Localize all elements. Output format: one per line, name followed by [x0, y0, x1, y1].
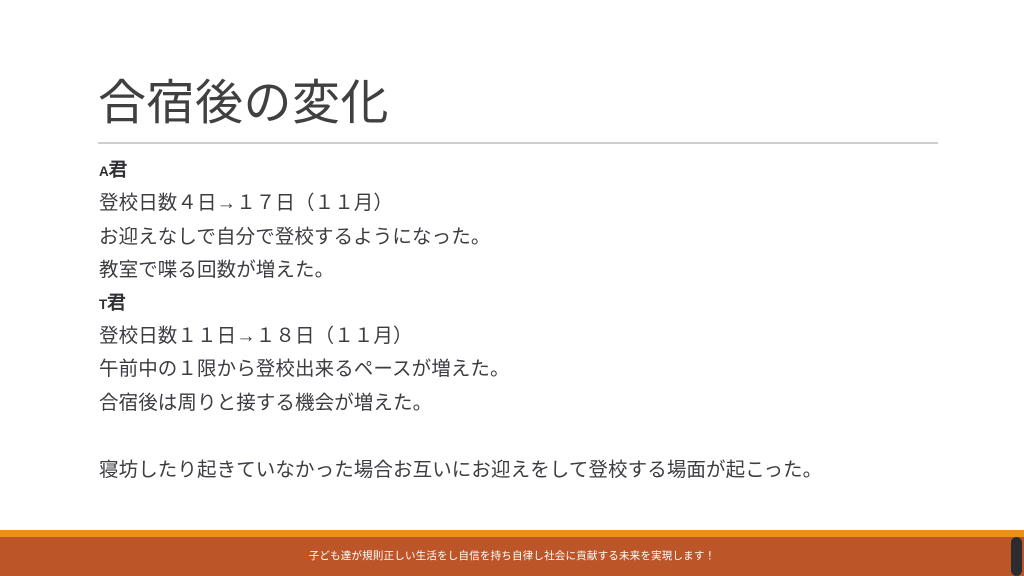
footer-tagline: 子ども達が規則正しい生活をし自信を持ち自律し社会に貢献する未来を実現します！ — [0, 537, 1024, 576]
section-heading-t: T君 — [99, 288, 969, 320]
footer-accent-stripe — [0, 530, 1024, 537]
page-title: 合宿後の変化 — [98, 76, 948, 133]
section-heading-t-initial: T — [99, 297, 107, 312]
presentation-slide: 合宿後の変化 A君 登校日数４日→１７日（１１月） お迎えなしで自分で登校するよ… — [0, 0, 1024, 576]
title-divider — [98, 142, 938, 144]
slide-body: A君 登校日数４日→１７日（１１月） お迎えなしで自分で登校するようになった。 … — [99, 155, 969, 488]
section-t-line-3: 合宿後は周りと接する機会が増えた。 — [99, 387, 969, 421]
body-summary-line: 寝坊したり起きていなかった場合お互いにお迎えをして登校する場面が起こった。 — [99, 454, 969, 488]
section-t-line-1: 登校日数１１日→１８日（１１月） — [99, 320, 969, 354]
section-a-line-2: お迎えなしで自分で登校するようになった。 — [99, 221, 969, 255]
section-heading-t-suffix: 君 — [107, 292, 126, 313]
section-heading-a-initial: A — [99, 164, 109, 179]
vertical-scrollbar-thumb[interactable] — [1011, 537, 1022, 576]
section-a-line-1: 登校日数４日→１７日（１１月） — [99, 187, 969, 221]
section-a-line-3: 教室で喋る回数が増えた。 — [99, 254, 969, 288]
body-blank-line — [99, 421, 969, 455]
section-heading-a: A君 — [99, 155, 969, 187]
section-t-line-2: 午前中の１限から登校出来るペースが増えた。 — [99, 353, 969, 387]
section-heading-a-suffix: 君 — [109, 159, 128, 180]
